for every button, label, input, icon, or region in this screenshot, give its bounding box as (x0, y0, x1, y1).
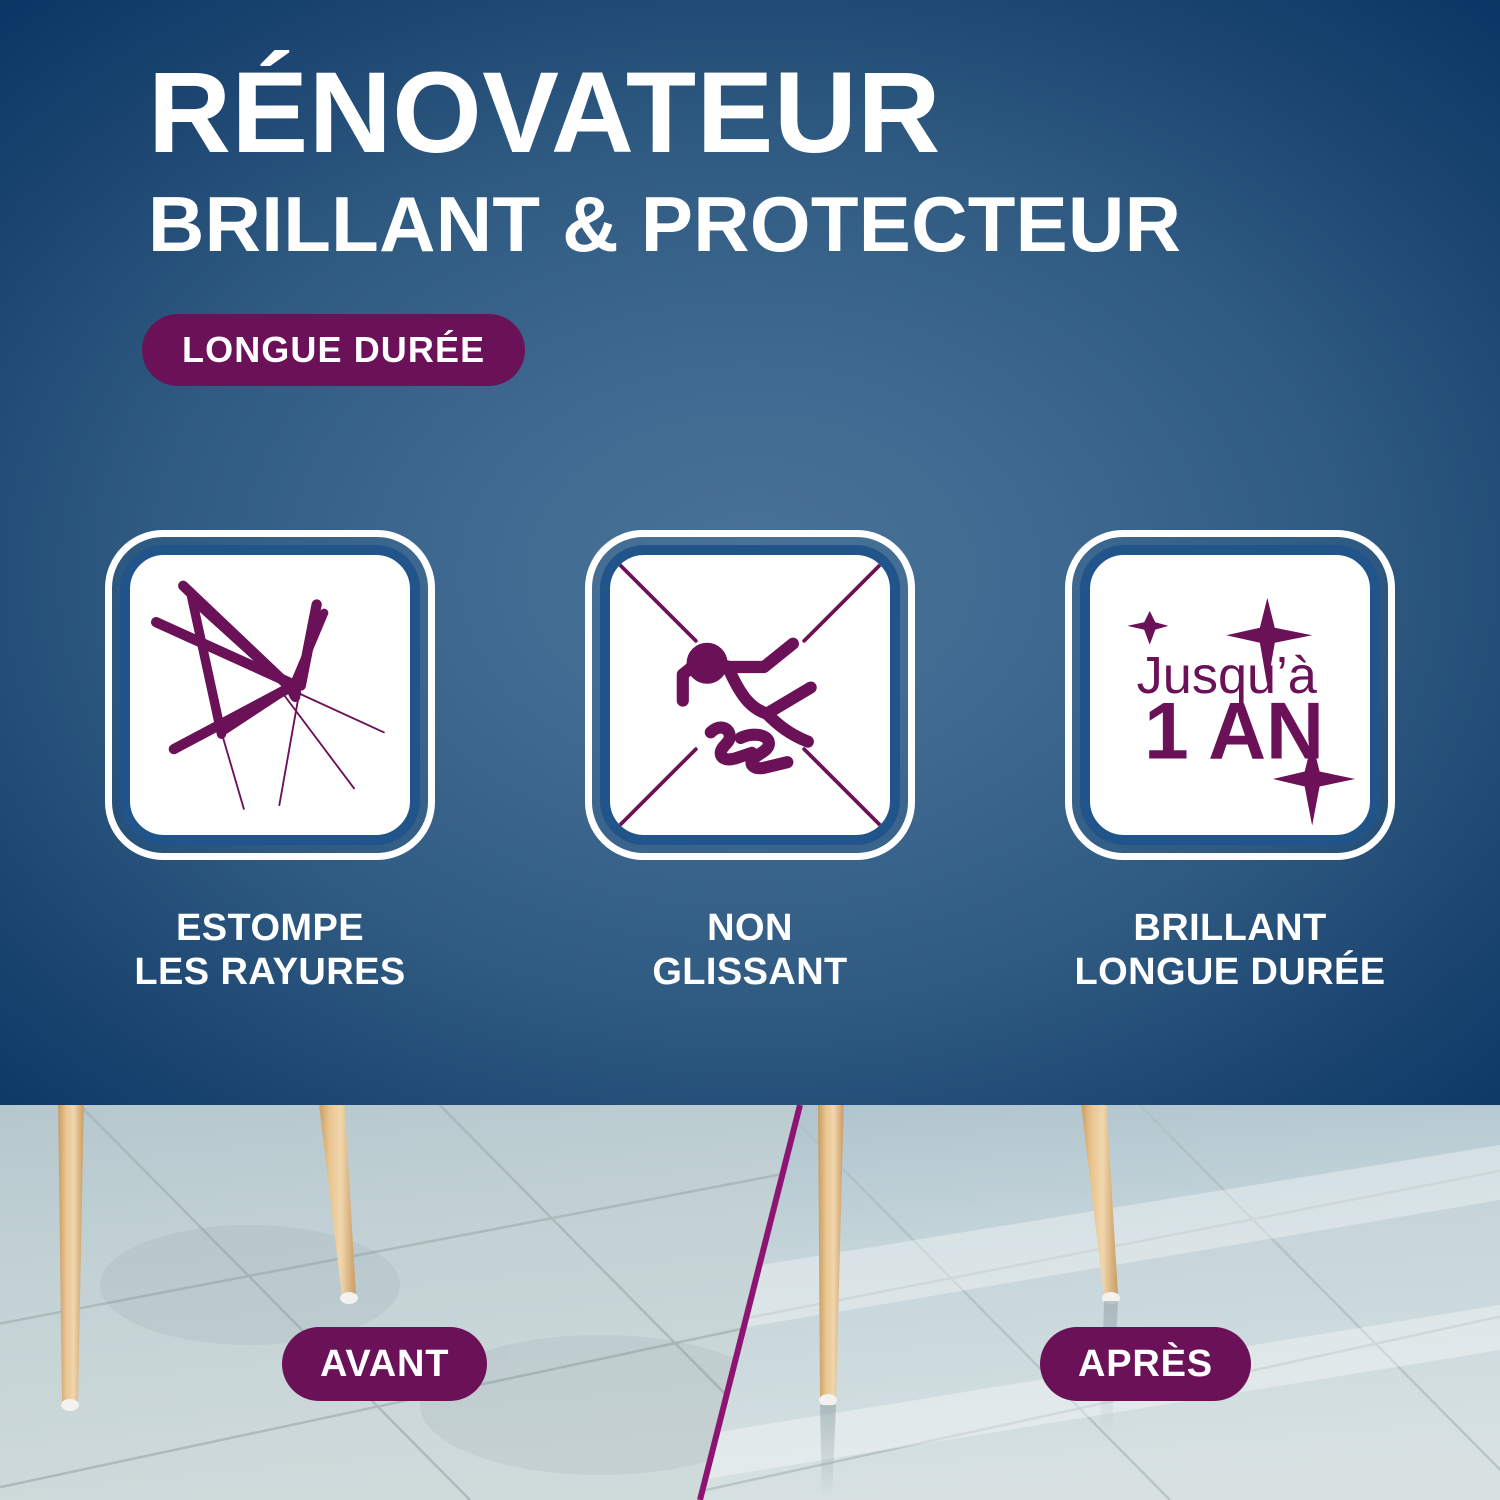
feature-row: ESTOMPE LES RAYURES (0, 530, 1500, 994)
tile-inner (600, 545, 900, 845)
scratches-icon (130, 555, 410, 835)
icon-text-one-year: 1 AN (1144, 686, 1324, 776)
page-title: RÉNOVATEUR (148, 56, 1398, 171)
feature-tile (585, 530, 915, 860)
feature-tile (105, 530, 435, 860)
before-after-photo (0, 1105, 1500, 1500)
feature-tile: Jusqu’à 1 AN (1065, 530, 1395, 860)
status-badge-longue-duree: LONGUE DURÉE (142, 314, 525, 386)
headline-block: RÉNOVATEUR BRILLANT & PROTECTEUR (148, 56, 1398, 263)
poster-root: RÉNOVATEUR BRILLANT & PROTECTEUR LONGUE … (0, 0, 1500, 1500)
feature-caption: NON GLISSANT (652, 906, 847, 994)
one-year-shine-icon: Jusqu’à 1 AN (1090, 555, 1370, 835)
feature-estompe-les-rayures: ESTOMPE LES RAYURES (100, 530, 440, 994)
feature-brillant-longue-duree: Jusqu’à 1 AN BRILLANT LONGUE DURÉE (1060, 530, 1400, 994)
page-subtitle: BRILLANT & PROTECTEUR (148, 185, 1398, 263)
feature-caption: BRILLANT LONGUE DURÉE (1075, 906, 1386, 994)
tile-inner: Jusqu’à 1 AN (1080, 545, 1380, 845)
floor-before (0, 1105, 830, 1500)
feature-non-glissant: NON GLISSANT (580, 530, 920, 994)
tile-inner (120, 545, 420, 845)
feature-caption: ESTOMPE LES RAYURES (134, 906, 405, 994)
badge-avant: AVANT (282, 1327, 487, 1401)
floor-illustration (0, 1105, 1500, 1500)
no-slip-icon (610, 555, 890, 835)
hero-panel: RÉNOVATEUR BRILLANT & PROTECTEUR LONGUE … (0, 0, 1500, 1105)
badge-apres: APRÈS (1040, 1327, 1251, 1401)
